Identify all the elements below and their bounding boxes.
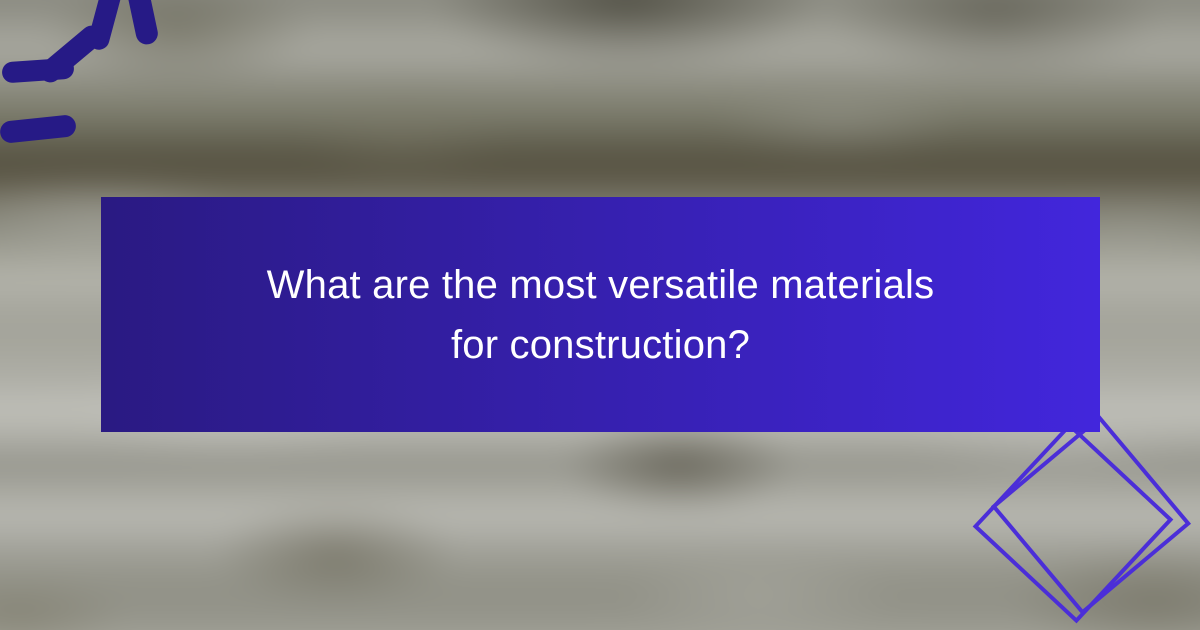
starburst-ray-4 — [86, 0, 124, 52]
question-card: What are the most versatile materials fo… — [0, 0, 1200, 630]
title-banner: What are the most versatile materials fo… — [101, 197, 1100, 432]
starburst-ray-1 — [0, 114, 77, 144]
starburst-ray-5 — [122, 0, 160, 46]
starburst-icon — [0, 0, 200, 180]
page-title: What are the most versatile materials fo… — [241, 255, 961, 375]
